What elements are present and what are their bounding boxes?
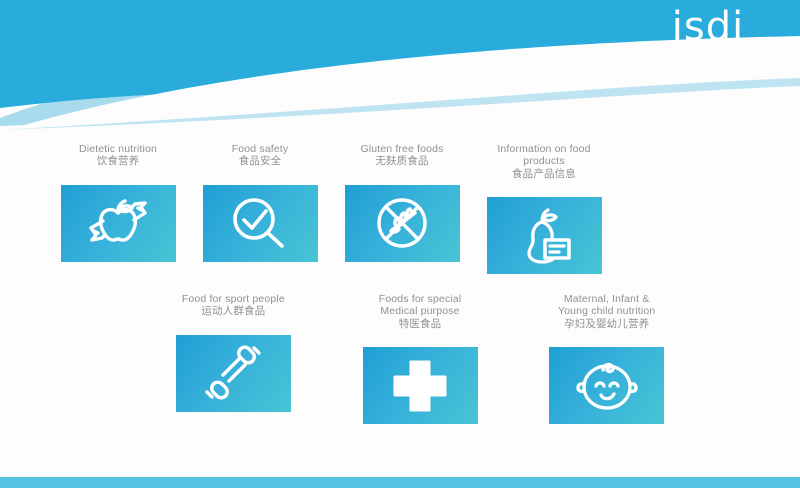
category-medical-foods[interactable]: Foods for special Medical purpose 特医食品: [327, 280, 514, 424]
no-gluten-wheat-icon: [370, 193, 434, 253]
category-label: Food safety 食品安全: [232, 130, 289, 181]
category-label: Foods for special Medical purpose 特医食品: [379, 280, 462, 343]
category-tile[interactable]: [61, 185, 176, 262]
category-label-en: Food for sport people: [182, 293, 285, 305]
category-label-zh: 食品安全: [232, 155, 289, 168]
category-label-en: Gluten free foods: [360, 143, 443, 155]
category-label-en: Foods for special Medical purpose: [379, 293, 462, 318]
category-gluten-free[interactable]: Gluten free foods 无麸质食品: [331, 130, 473, 262]
category-label: Information on food products 食品产品信息: [497, 130, 590, 193]
category-label: Dietetic nutrition 饮食营养: [79, 130, 157, 181]
category-label: Maternal, Infant & Young child nutrition…: [558, 280, 655, 343]
logo-tagline: International Special Dietary Foods Indu…: [638, 51, 778, 73]
category-tile[interactable]: [487, 197, 602, 274]
category-label-en: Information on food products: [497, 143, 590, 168]
apple-candy-icon: [79, 195, 157, 251]
logo-wordmark: isdi: [638, 6, 778, 48]
category-tile[interactable]: [203, 185, 318, 262]
baby-face-icon: [573, 357, 641, 415]
magnifier-check-icon: [225, 194, 295, 252]
category-food-information[interactable]: Information on food products 食品产品信息: [473, 130, 615, 274]
category-food-safety[interactable]: Food safety 食品安全: [189, 130, 331, 262]
category-tile[interactable]: [363, 347, 478, 424]
category-tile[interactable]: [549, 347, 664, 424]
isdi-logo: isdi International Special Dietary Foods…: [638, 6, 778, 73]
medical-cross-icon: [389, 357, 451, 415]
category-label-zh: 饮食营养: [79, 155, 157, 168]
category-maternal-infant[interactable]: Maternal, Infant & Young child nutrition…: [513, 280, 700, 424]
dumbbell-icon: [201, 343, 265, 403]
category-label-zh: 食品产品信息: [497, 168, 590, 181]
wave-accent-sweep: [0, 78, 800, 130]
category-label-zh: 无麸质食品: [360, 155, 443, 168]
category-label-en: Dietetic nutrition: [79, 143, 157, 155]
cross-shape: [395, 362, 445, 410]
pear-label-icon: [512, 206, 576, 266]
category-label-zh: 孕妇及婴幼儿营养: [558, 318, 655, 331]
category-tile[interactable]: [345, 185, 460, 262]
category-tile[interactable]: [176, 335, 291, 412]
category-sport-nutrition[interactable]: Food for sport people 运动人群食品: [140, 280, 327, 412]
category-label: Food for sport people 运动人群食品: [182, 280, 285, 331]
category-label-en: Maternal, Infant & Young child nutrition: [558, 293, 655, 318]
category-row-1: Dietetic nutrition 饮食营养: [47, 130, 787, 274]
category-dietetic-nutrition[interactable]: Dietetic nutrition 饮食营养: [47, 130, 189, 262]
category-label-en: Food safety: [232, 143, 289, 155]
slide-canvas: isdi International Special Dietary Foods…: [0, 0, 800, 488]
footer-accent-bar: [0, 477, 800, 488]
category-label-zh: 运动人群食品: [182, 305, 285, 318]
category-row-2: Food for sport people 运动人群食品: [140, 280, 700, 424]
category-label: Gluten free foods 无麸质食品: [360, 130, 443, 181]
category-label-zh: 特医食品: [379, 318, 462, 331]
